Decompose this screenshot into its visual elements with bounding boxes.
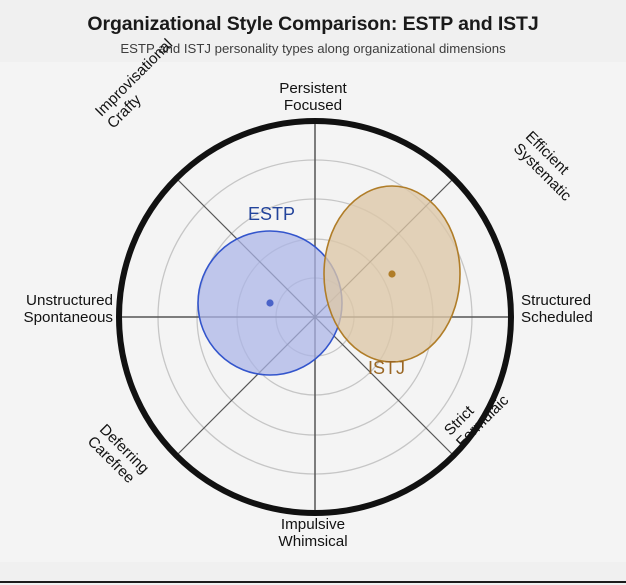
series-label-istj: ISTJ (368, 358, 405, 379)
series-estp (198, 231, 342, 375)
series-label-estp: ESTP (248, 204, 295, 225)
chart-root: Organizational Style Comparison: ESTP an… (0, 0, 626, 585)
istj-center-dot (388, 270, 395, 277)
axis-label-line1: Persistent (279, 80, 347, 97)
axis-label-unstructured-spontaneous: Unstructured Spontaneous (8, 292, 113, 326)
series-istj (324, 186, 460, 362)
axis-label-structured-scheduled: Structured Scheduled (521, 292, 626, 326)
axis-label-line2: Whimsical (0, 533, 626, 550)
axis-label-line2: Scheduled (521, 309, 626, 326)
axis-label-line1: Unstructured (26, 292, 113, 309)
axis-label-line1: Structured (521, 292, 591, 309)
axis-label-line2: Spontaneous (8, 309, 113, 326)
footer-divider (0, 581, 626, 583)
estp-center-dot (266, 299, 273, 306)
axis-label-line1: Impulsive (281, 516, 345, 533)
axis-label-impulsive-whimsical: Impulsive Whimsical (0, 516, 626, 550)
